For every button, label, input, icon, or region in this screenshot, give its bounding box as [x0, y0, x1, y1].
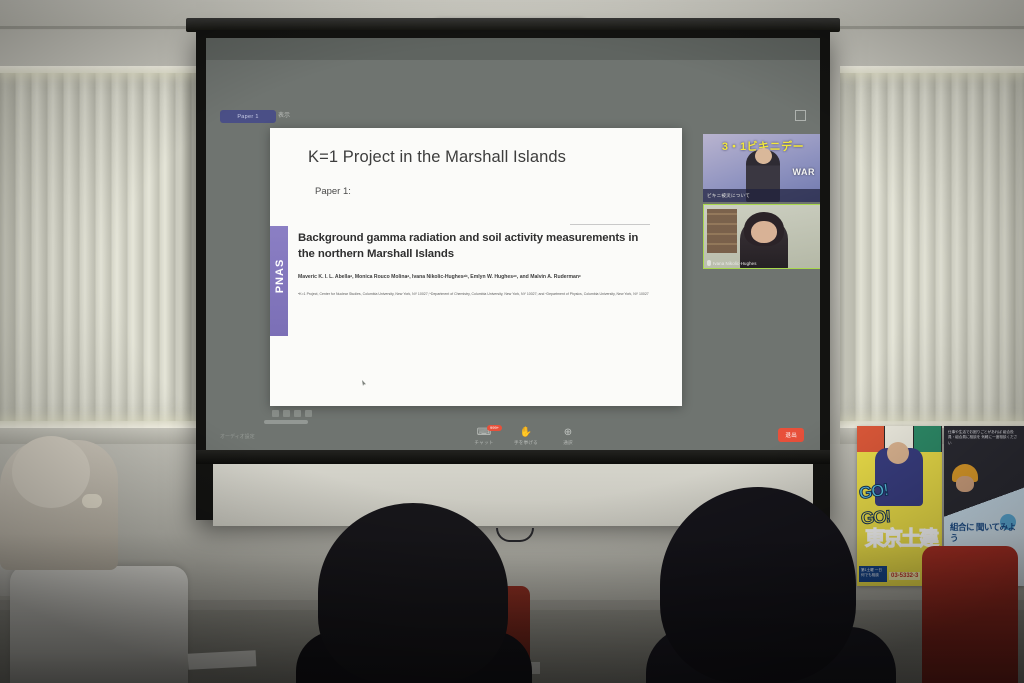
- audience-member-left-hand: [82, 494, 102, 508]
- audience-member-left-head: [12, 436, 90, 508]
- raise-hand-button[interactable]: ✋ 手を挙げる: [506, 428, 546, 446]
- video-tile-strip: 3・1ビキニデー WAR ビキニ被災について Ivana Nikolic-Hug…: [703, 134, 820, 269]
- blind-light-bottom-left: [0, 421, 196, 428]
- raise-hand-icon: ✋: [520, 428, 532, 438]
- broadcast-speaker-face: [755, 148, 772, 164]
- shared-slide: K=1 Project in the Marshall Islands Pape…: [270, 128, 682, 406]
- shared-broadcast-tile[interactable]: 3・1ビキニデー WAR ビキニ被災について: [703, 134, 820, 202]
- bookshelf-background: [707, 209, 737, 253]
- chair-right: [922, 546, 1018, 683]
- view-mode-secondary-label[interactable]: 表示: [278, 110, 290, 119]
- participant-name-tag: Ivana Nikolic-Hughes: [707, 260, 757, 266]
- blind-light-top-right: [840, 66, 1024, 73]
- broadcast-ticker-text: ビキニ被災について: [703, 193, 750, 199]
- audience-member-center-head: [318, 503, 508, 683]
- audience-member-right-head: [660, 487, 856, 683]
- audio-settings-label[interactable]: オーディオ設定: [220, 433, 255, 440]
- article-title: Background gamma radiation and soil acti…: [298, 230, 646, 262]
- interpretation-globe-icon: ⊕: [564, 428, 572, 438]
- manga-character-head: [887, 442, 909, 464]
- window-blinds-left: [0, 66, 196, 428]
- union-poster-top-text: 仕事や生活でお困りごとがあれば 組合役員・組合員に相談を 気軽に一度相談ください: [948, 430, 1020, 446]
- audio-status-chip: [264, 420, 308, 424]
- projection-screen-bottom-bar: [196, 450, 830, 464]
- pnas-sidebar: PNAS: [270, 226, 288, 336]
- zoom-bottom-toolbar: オーディオ設定 ⌨ 999+ チャット ✋ 手を挙げる ⊕ 通訳 退出: [206, 416, 820, 450]
- chair-seat-left: [10, 652, 188, 683]
- poster-go-text-2: GO!: [860, 507, 890, 529]
- blind-light-top-left: [0, 66, 196, 73]
- union-poster-headline: 組合に 聞いてみよう: [950, 522, 1022, 544]
- poster-go-text-1: GO!: [858, 480, 890, 504]
- screenshot-root: EPSON Paper 1 表示 K=1 Project in the Mars…: [0, 0, 1024, 683]
- poster-phone-number: 03-5332-3: [889, 572, 920, 580]
- leave-meeting-button[interactable]: 退出: [778, 428, 804, 442]
- interpretation-label: 通訳: [563, 440, 573, 446]
- slide-paper-label: Paper 1:: [315, 186, 351, 197]
- chat-button[interactable]: ⌨ 999+ チャット: [464, 428, 504, 446]
- article-affiliations: ᵃK=1 Project, Center for Nuclear Studies…: [298, 292, 654, 297]
- raise-hand-label: 手を挙げる: [514, 440, 538, 446]
- interpretation-button[interactable]: ⊕ 通訳: [548, 428, 588, 446]
- chair-front-left: [10, 566, 188, 683]
- mouse-cursor: [362, 380, 366, 386]
- broadcast-ticker: ビキニ被災について: [703, 189, 820, 202]
- manga-panel-3: [914, 426, 942, 452]
- projection-screen-surface: Paper 1 表示 K=1 Project in the Marshall I…: [206, 38, 820, 450]
- pnas-logo-text: PNAS: [274, 240, 286, 312]
- chat-label: チャット: [474, 440, 493, 446]
- article-rule: [570, 224, 650, 225]
- participant-name: Ivana Nikolic-Hughes: [713, 261, 757, 266]
- view-mode-badge[interactable]: Paper 1: [220, 110, 276, 123]
- zoom-titlebar: [206, 38, 820, 60]
- window-blinds-right: [840, 66, 1024, 428]
- broadcast-overlay-text: WAR: [793, 167, 816, 177]
- union-worker-face: [956, 476, 974, 492]
- expand-icon[interactable]: [795, 110, 806, 121]
- microphone-icon: [707, 260, 711, 266]
- zoom-meeting-window: Paper 1 表示 K=1 Project in the Marshall I…: [206, 38, 820, 450]
- poster-corner-note: 第1土曜 一日何でも相談: [859, 566, 887, 582]
- slide-title: K=1 Project in the Marshall Islands: [308, 148, 566, 167]
- article-authors: Maveric K. I. L. Abellaᵃ, Monica Rouco M…: [298, 274, 650, 282]
- participant-head: [744, 212, 784, 246]
- chat-unread-badge: 999+: [487, 425, 502, 431]
- participant-tile[interactable]: Ivana Nikolic-Hughes: [703, 204, 820, 269]
